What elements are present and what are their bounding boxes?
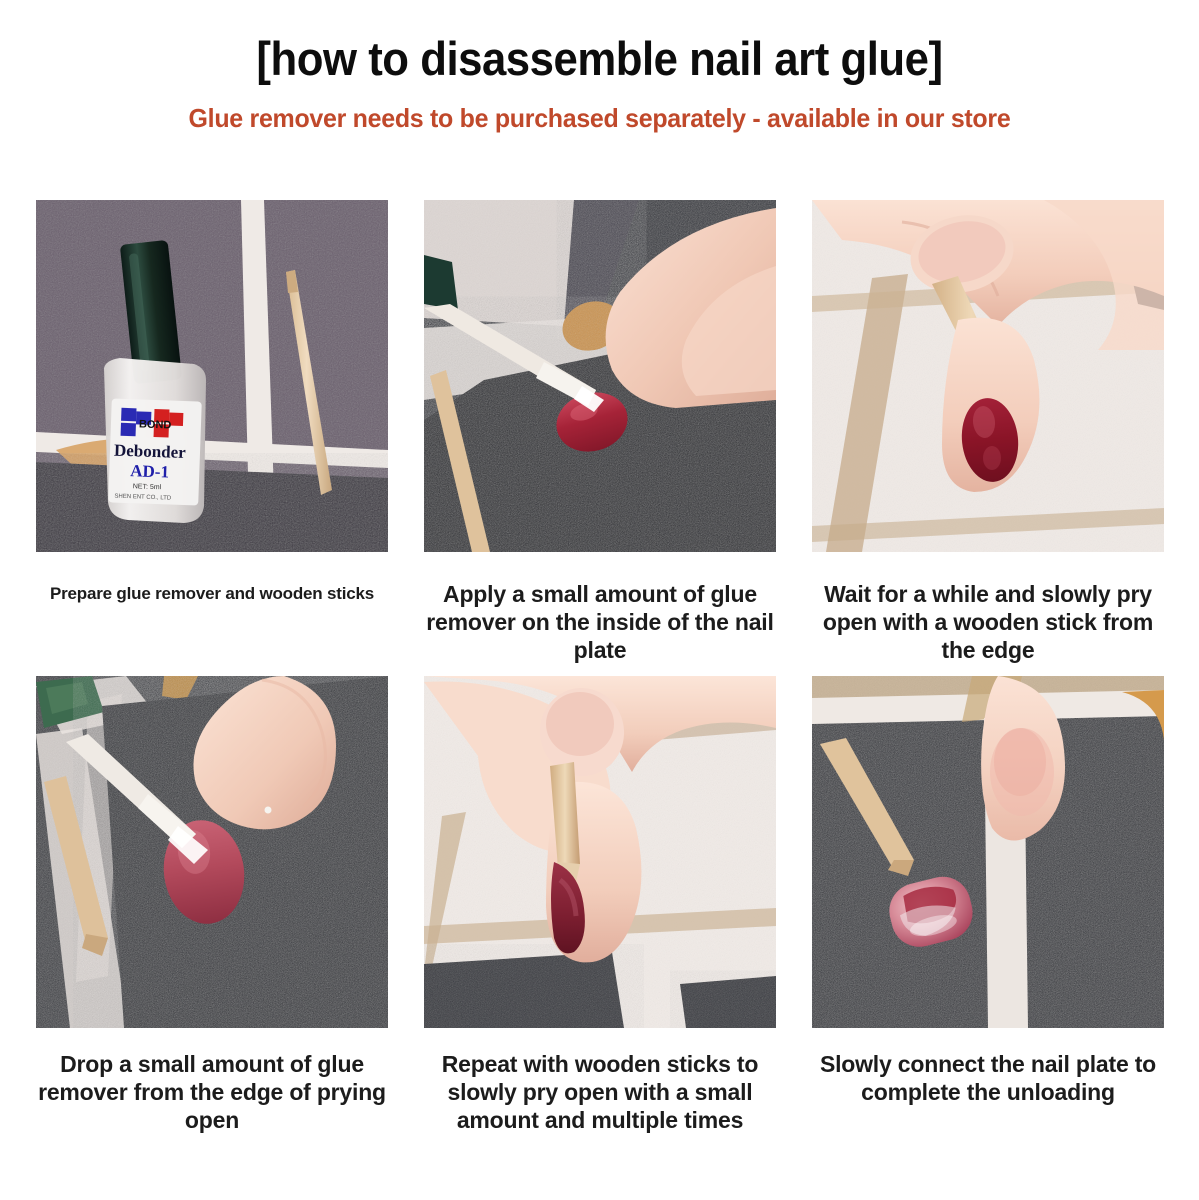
svg-text:BOND: BOND [139,418,172,431]
svg-text:NET: 5ml: NET: 5ml [133,483,162,491]
step-card-2: Apply a small amount of glue remover on … [424,200,776,680]
svg-text:AD-1: AD-1 [130,461,169,481]
page-title: [how to disassemble nail art glue] [42,34,1157,83]
step-caption-2: Apply a small amount of glue remover on … [424,552,776,676]
step-card-1: BOND Debonder AD-1 NET: 5ml SHEN ENT CO.… [36,200,388,680]
step-image-2 [424,200,776,552]
steps-row-1: BOND Debonder AD-1 NET: 5ml SHEN ENT CO.… [36,200,1164,680]
step-image-5 [424,676,776,1028]
svg-text:Debonder: Debonder [114,441,187,463]
step-caption-3: Wait for a while and slowly pry open wit… [812,552,1164,676]
step-image-3 [812,200,1164,552]
step-caption-4: Drop a small amount of glue remover from… [36,1028,388,1134]
steps-row-2: Drop a small amount of glue remover from… [36,676,1164,1134]
page-header: [how to disassemble nail art glue] Glue … [0,0,1199,134]
step-caption-1: Prepare glue remover and wooden sticks [36,552,388,680]
step-card-4: Drop a small amount of glue remover from… [36,676,388,1134]
page-subtitle: Glue remover needs to be purchased separ… [24,83,1175,134]
step-card-5: Repeat with wooden sticks to slowly pry … [424,676,776,1134]
step-image-1: BOND Debonder AD-1 NET: 5ml SHEN ENT CO.… [36,200,388,552]
step-card-6: Slowly connect the nail plate to complet… [812,676,1164,1134]
step-image-6 [812,676,1164,1028]
step-caption-6: Slowly connect the nail plate to complet… [812,1028,1164,1106]
step-image-4 [36,676,388,1028]
step-card-3: Wait for a while and slowly pry open wit… [812,200,1164,680]
step-caption-5: Repeat with wooden sticks to slowly pry … [424,1028,776,1134]
